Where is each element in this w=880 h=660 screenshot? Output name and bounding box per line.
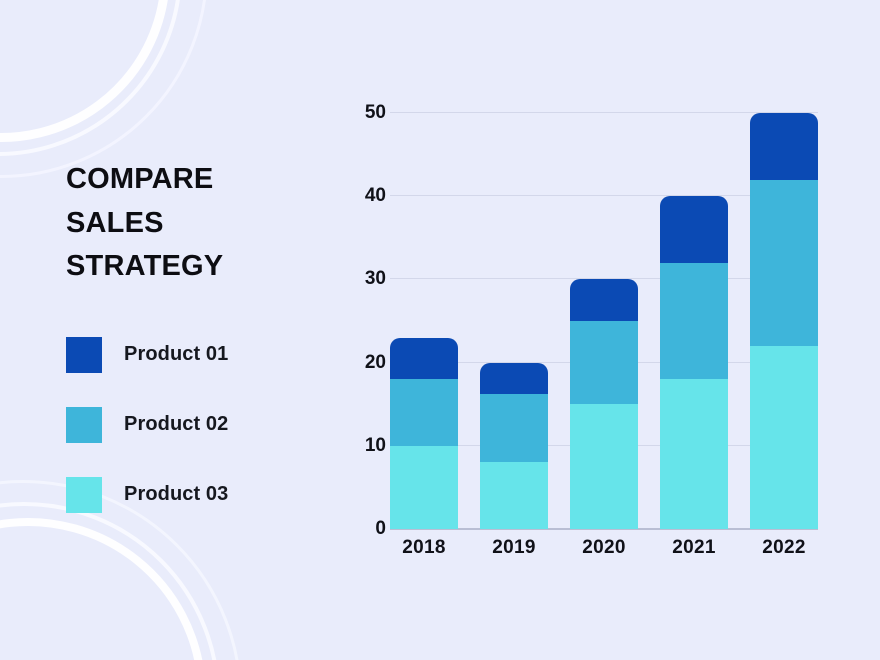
bar-segment[interactable]: [660, 196, 728, 263]
bar-group: [390, 113, 818, 529]
bar-segment[interactable]: [660, 379, 728, 529]
bar-segment[interactable]: [570, 404, 638, 529]
bar-segment[interactable]: [390, 446, 458, 529]
legend-swatch-icon: [66, 407, 102, 443]
bar-column[interactable]: [480, 113, 548, 529]
bar-segment[interactable]: [480, 462, 548, 529]
page-title: COMPARE SALES STRATEGY: [66, 158, 336, 289]
decorative-arc-top-left-inner: [0, 0, 192, 164]
decorative-arc-top-left-outer: [0, 0, 208, 178]
x-axis-tick-label: 2021: [660, 537, 728, 559]
chart-legend: Product 01Product 02Product 03: [66, 337, 336, 513]
bar-segment[interactable]: [750, 113, 818, 180]
bar-segment[interactable]: [660, 263, 728, 379]
plot-area: [390, 113, 818, 529]
legend-item-label: Product 02: [124, 413, 228, 436]
legend-item[interactable]: Product 01: [66, 337, 336, 373]
bar-column[interactable]: [390, 113, 458, 529]
y-axis-tick-label: 20: [340, 352, 386, 374]
x-axis-tick-label: 2018: [390, 537, 458, 559]
y-axis-tick-label: 40: [340, 185, 386, 207]
bar-column[interactable]: [570, 113, 638, 529]
legend-item-label: Product 01: [124, 343, 228, 366]
x-axis-tick-label: 2019: [480, 537, 548, 559]
y-axis-tick-label: 10: [340, 435, 386, 457]
stacked-bar[interactable]: [570, 279, 638, 529]
legend-swatch-icon: [66, 477, 102, 513]
stacked-bar[interactable]: [750, 113, 818, 529]
bar-segment[interactable]: [570, 321, 638, 404]
bar-segment[interactable]: [390, 379, 458, 446]
legend-item[interactable]: Product 02: [66, 407, 336, 443]
bar-segment[interactable]: [480, 363, 548, 395]
y-axis-tick-label: 30: [340, 268, 386, 290]
legend-swatch-icon: [66, 337, 102, 373]
bar-segment[interactable]: [390, 338, 458, 380]
y-axis-tick-label: 0: [340, 518, 386, 540]
bar-segment[interactable]: [750, 180, 818, 346]
stacked-bar[interactable]: [390, 338, 458, 529]
x-axis-labels: 20182019202020212022: [390, 537, 818, 559]
bar-column[interactable]: [750, 113, 818, 529]
bar-segment[interactable]: [570, 279, 638, 321]
stacked-bar[interactable]: [480, 363, 548, 529]
slide-canvas: COMPARE SALES STRATEGY Product 01Product…: [0, 0, 880, 660]
bar-column[interactable]: [660, 113, 728, 529]
stacked-bar-chart: 01020304050 20182019202020212022: [340, 100, 840, 570]
stacked-bar[interactable]: [660, 196, 728, 529]
x-axis-tick-label: 2020: [570, 537, 638, 559]
legend-item-label: Product 03: [124, 483, 228, 506]
bar-segment[interactable]: [750, 346, 818, 529]
left-panel: COMPARE SALES STRATEGY Product 01Product…: [66, 158, 336, 547]
decorative-arc-top-left-middle: [0, 0, 194, 168]
legend-item[interactable]: Product 03: [66, 477, 336, 513]
bar-segment[interactable]: [480, 394, 548, 462]
y-axis-tick-label: 50: [340, 102, 386, 124]
x-axis-tick-label: 2022: [750, 537, 818, 559]
y-axis-labels: 01020304050: [340, 113, 386, 529]
